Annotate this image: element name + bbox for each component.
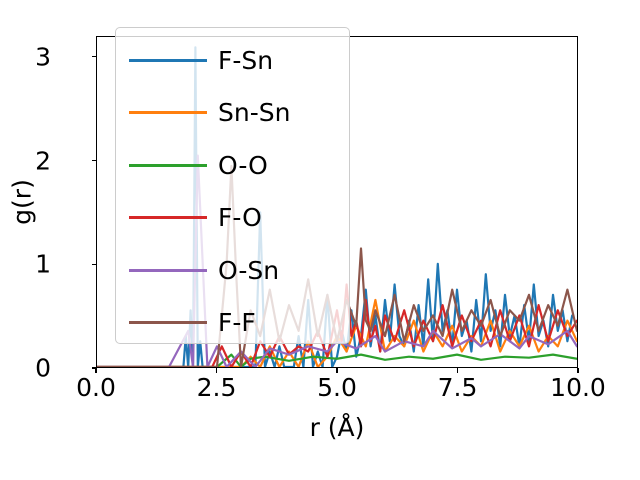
legend-item-o-o[interactable]: O-O xyxy=(116,139,349,192)
legend-swatch-sn-sn xyxy=(129,111,207,114)
legend-label: F-F xyxy=(218,310,256,335)
legend-label: F-O xyxy=(218,205,262,230)
legend-item-f-f[interactable]: F-F xyxy=(116,297,349,350)
x-tick-mark xyxy=(457,368,458,373)
y-tick-label: 0 xyxy=(35,356,51,381)
x-tick-label: 7.5 xyxy=(438,375,478,400)
legend-swatch-f-o xyxy=(129,216,207,219)
legend-label: O-Sn xyxy=(218,258,279,283)
x-tick-label: 2.5 xyxy=(197,375,237,400)
y-tick-mark xyxy=(92,367,97,368)
legend-swatch-o-sn xyxy=(129,269,207,272)
legend-item-f-sn[interactable]: F-Sn xyxy=(116,34,349,87)
figure-canvas: 0.02.55.07.510.0 0123 r (Å) g(r) F-SnSn-… xyxy=(0,0,640,480)
legend-item-o-sn[interactable]: O-Sn xyxy=(116,244,349,297)
x-tick-label: 10.0 xyxy=(550,375,606,400)
y-axis-label: g(r) xyxy=(10,179,35,225)
y-tick-mark xyxy=(92,264,97,265)
legend-label: F-Sn xyxy=(218,48,273,73)
legend-item-f-o[interactable]: F-O xyxy=(116,192,349,245)
x-tick-mark xyxy=(216,368,217,373)
legend-label: O-O xyxy=(218,153,268,178)
y-tick-label: 1 xyxy=(35,252,51,277)
y-tick-mark xyxy=(92,160,97,161)
x-tick-mark xyxy=(336,368,337,373)
legend-swatch-f-f xyxy=(129,321,207,324)
y-tick-mark xyxy=(92,56,97,57)
y-tick-label: 2 xyxy=(35,148,51,173)
legend-item-sn-sn[interactable]: Sn-Sn xyxy=(116,87,349,140)
x-tick-label: 5.0 xyxy=(317,375,357,400)
x-tick-label: 0.0 xyxy=(76,375,116,400)
x-tick-mark xyxy=(577,368,578,373)
legend-swatch-f-sn xyxy=(129,59,207,62)
legend-swatch-o-o xyxy=(129,164,207,167)
legend-label: Sn-Sn xyxy=(218,100,290,125)
x-tick-mark xyxy=(95,368,96,373)
chart-legend[interactable]: F-SnSn-SnO-OF-OO-SnF-F xyxy=(115,27,350,344)
x-axis-label: r (Å) xyxy=(310,415,365,440)
y-tick-label: 3 xyxy=(35,44,51,69)
